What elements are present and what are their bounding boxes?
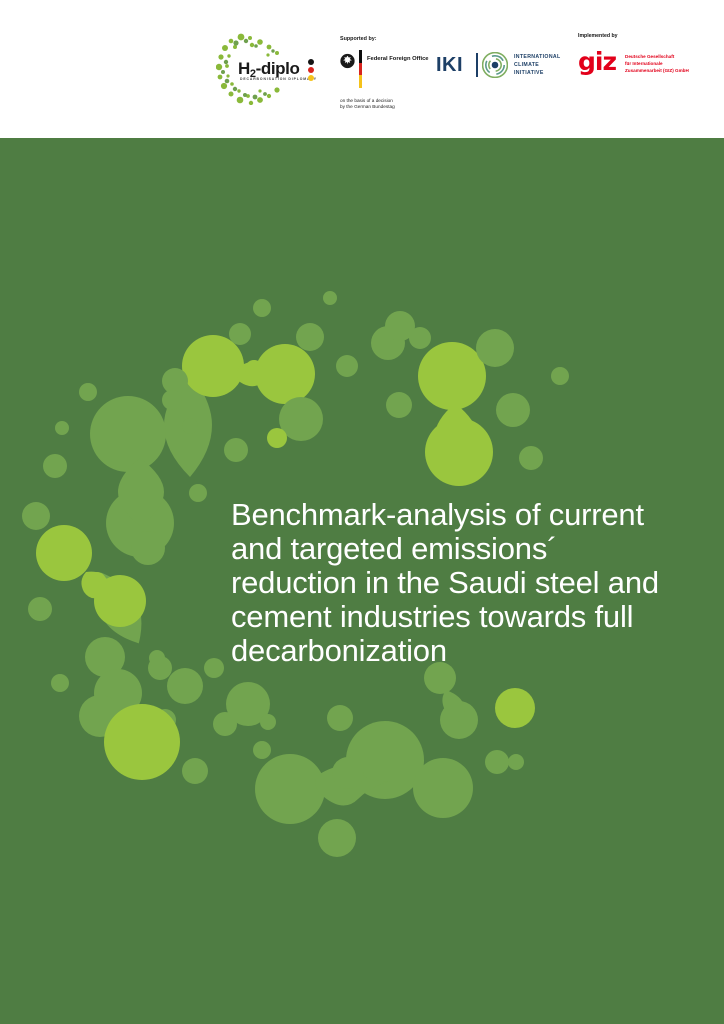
iki-logo: IKI INTERNATIONALCLIMATEINITIATIVE <box>436 50 546 84</box>
german-flag-dots-icon <box>308 59 316 81</box>
cover-background: .lt{fill:#9ac63e;} .md{fill:#72a44f;} .s… <box>0 138 724 1024</box>
h2diplo-logo: H2-diplo DECARBONISATION DIPLOMACY <box>216 33 324 105</box>
giz-logo: Implemented by giz Deutsche Gesellschaft… <box>578 33 688 81</box>
giz-wordmark: giz <box>578 49 616 74</box>
federal-foreign-office-logo: Supported by: Federal Foreign Office on … <box>340 36 426 120</box>
iki-wordmark: IKI <box>436 54 463 77</box>
header-logo-band: H2-diplo DECARBONISATION DIPLOMACY Suppo… <box>0 0 724 138</box>
h2diplo-wordmark: H2-diplo <box>238 59 299 79</box>
implemented-by-label: Implemented by <box>578 33 618 39</box>
giz-full-name: Deutsche Gesellschaftfür InternationaleZ… <box>625 54 689 75</box>
h2diplo-tagline: DECARBONISATION DIPLOMACY <box>240 77 317 81</box>
iki-globe-icon <box>482 52 508 78</box>
page-title: Benchmark-analysis of current and target… <box>231 498 661 668</box>
bundesadler-eagle-icon <box>340 53 355 69</box>
bundestag-basis-note: on the basis of a decisionby the German … <box>340 98 395 111</box>
german-flag-bar-icon <box>359 50 362 88</box>
supported-by-label: Supported by: <box>340 36 377 42</box>
iki-divider <box>476 53 478 77</box>
logo-row: H2-diplo DECARBONISATION DIPLOMACY Suppo… <box>0 0 724 138</box>
iki-full-name: INTERNATIONALCLIMATEINITIATIVE <box>514 53 561 77</box>
federal-foreign-office-name: Federal Foreign Office <box>367 56 429 62</box>
cover-page: H2-diplo DECARBONISATION DIPLOMACY Suppo… <box>0 0 724 1024</box>
